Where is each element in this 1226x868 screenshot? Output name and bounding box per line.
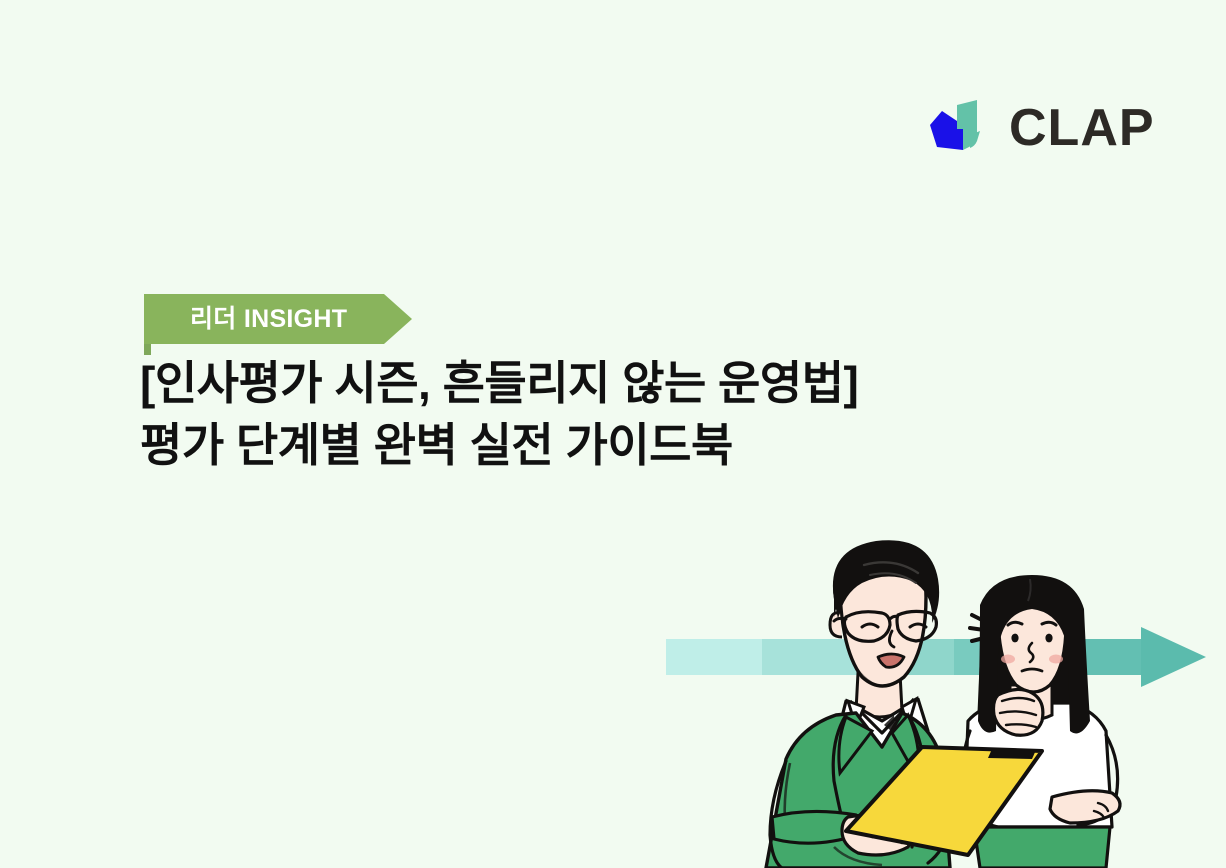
page-title: [인사평가 시즌, 흔들리지 않는 운영법] 평가 단계별 완벽 실전 가이드북 xyxy=(140,352,1120,476)
cover-illustration xyxy=(650,535,1226,868)
clap-logo-mark xyxy=(925,99,993,157)
badge-label: 리더 INSIGHT xyxy=(190,294,347,344)
brand-wordmark: CLAP xyxy=(1009,102,1155,154)
progress-arrow xyxy=(666,627,1206,687)
headline-line-2: 평가 단계별 완벽 실전 가이드북 xyxy=(140,414,1120,476)
cover-canvas: CLAP 리더 INSIGHT [인사평가 시즌, 흔들리지 않는 운영법] 평… xyxy=(0,0,1226,868)
category-badge: 리더 INSIGHT xyxy=(144,294,412,344)
illustration-svg xyxy=(650,535,1226,868)
headline-line-1: [인사평가 시즌, 흔들리지 않는 운영법] xyxy=(140,352,1120,414)
brand-logo[interactable]: CLAP xyxy=(925,99,1155,157)
